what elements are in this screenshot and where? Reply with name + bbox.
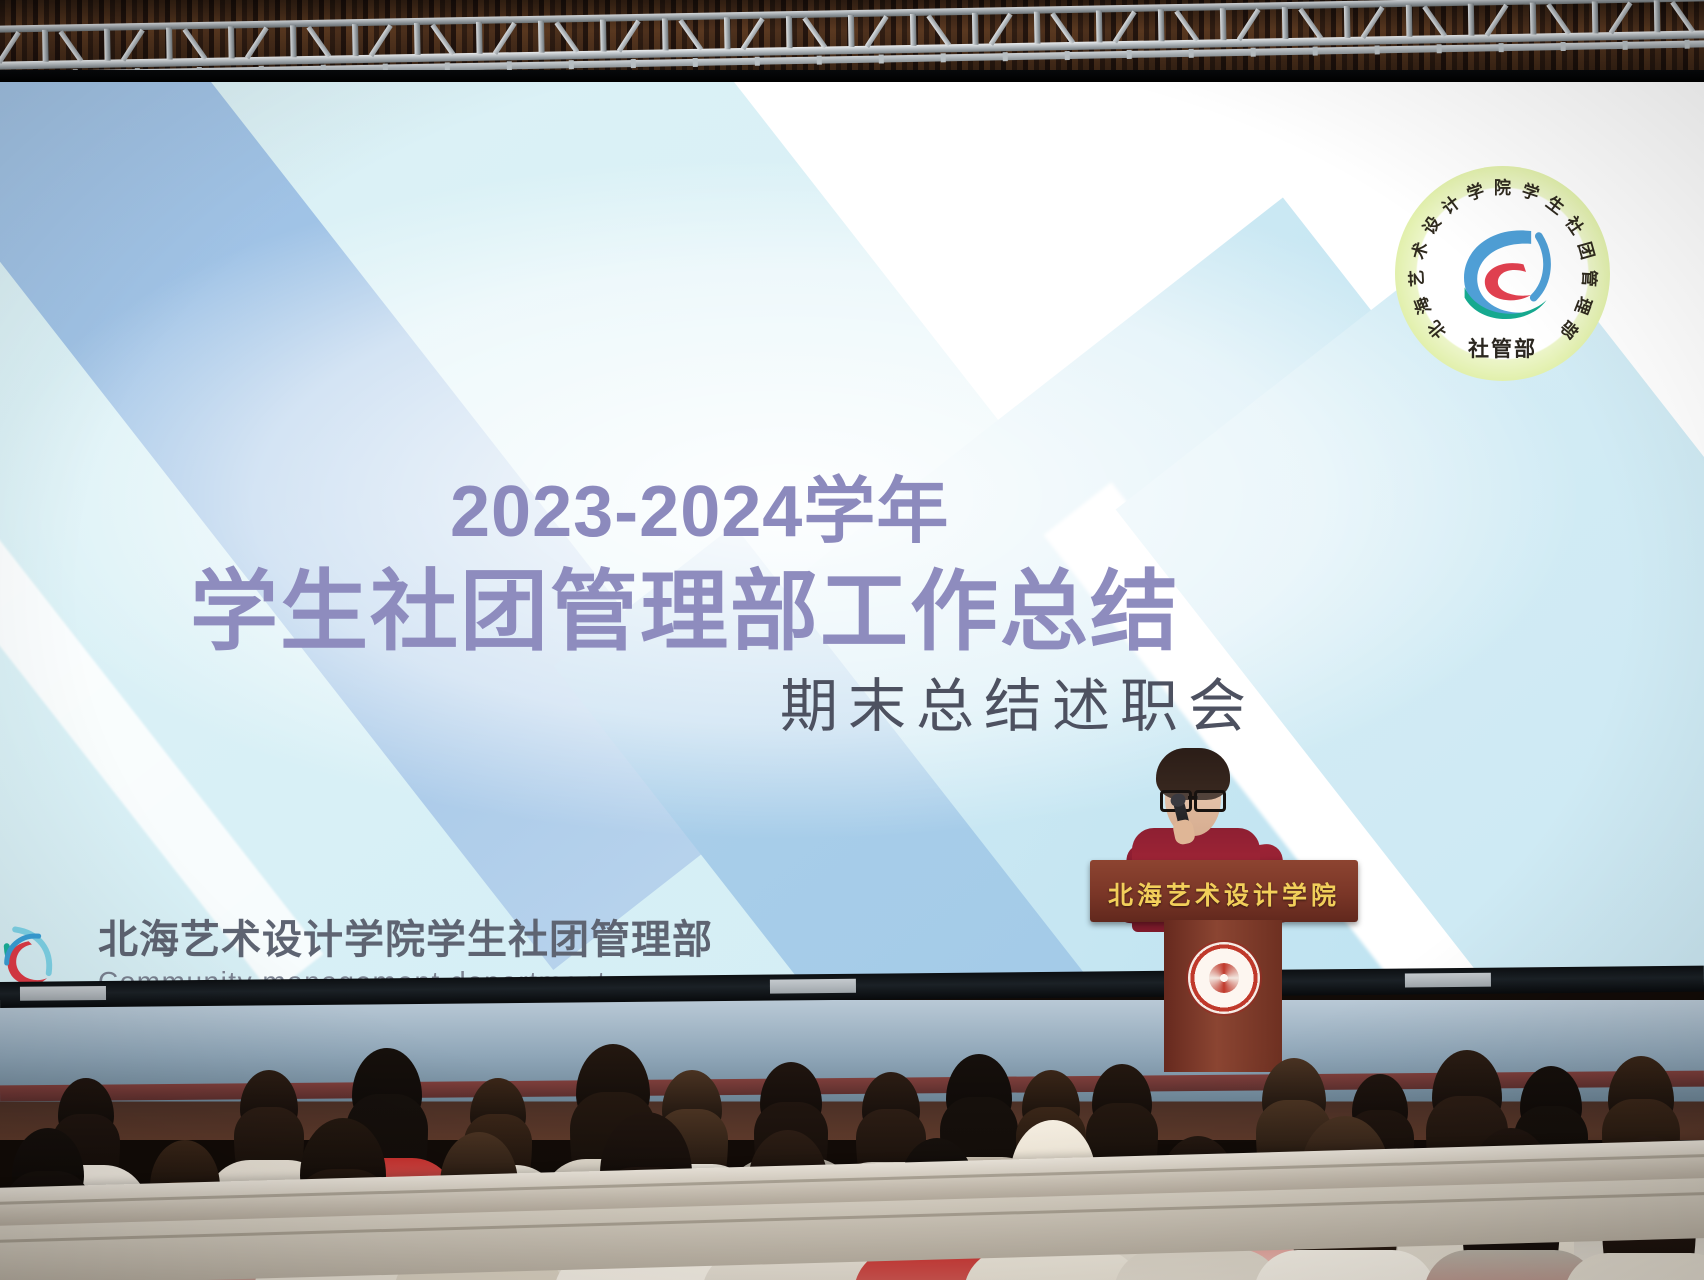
truss-vertical (1468, 4, 1475, 36)
slide-brand-cn: 北海艺术设计学院学生社团管理部 (98, 920, 713, 960)
truss-vertical (290, 25, 297, 57)
truss-vertical (1220, 8, 1227, 40)
truss-vertical (600, 20, 607, 52)
audience-shoulders (1254, 1250, 1436, 1280)
edge-label-mid (770, 979, 856, 994)
truss-vertical (42, 30, 49, 62)
truss-diagonal (926, 14, 951, 46)
truss-diagonal (1174, 10, 1199, 42)
truss-diagonal (245, 26, 269, 59)
truss-diagonal (306, 26, 331, 58)
truss-diagonal (1113, 11, 1137, 44)
truss-diagonal (121, 29, 145, 62)
truss-tick (1685, 40, 1690, 49)
truss-vertical (1592, 1, 1599, 33)
truss-tick (631, 59, 636, 68)
truss-tick (1065, 51, 1070, 60)
truss-tick (1499, 43, 1504, 52)
podium-nameplate: 北海艺术设计学院 (1090, 860, 1358, 922)
truss-tick (817, 56, 822, 65)
truss-vertical (1034, 12, 1041, 44)
truss-diagonal (1237, 8, 1261, 41)
seal-ring-char: 艺 (1402, 269, 1428, 287)
slide-year-line: 2023-2024学年 (450, 476, 1350, 548)
truss-vertical (1654, 0, 1661, 32)
truss-vertical (352, 24, 359, 56)
truss-diagonal (1050, 12, 1075, 44)
ceiling-shadow (0, 70, 1704, 82)
truss-vertical (1406, 5, 1413, 37)
truss-diagonal (59, 30, 84, 62)
truss-vertical (1344, 6, 1351, 38)
seal-ring-char: 院 (1494, 173, 1511, 198)
truss-vertical (1530, 2, 1537, 34)
truss-vertical (1282, 7, 1289, 39)
department-seal-core-icon (1439, 208, 1567, 336)
podium-nameplate-text: 北海艺术设计学院 (1090, 876, 1358, 912)
seal-ring-char: 理 (1570, 293, 1599, 318)
truss-vertical (910, 14, 917, 46)
truss-diagonal (554, 21, 579, 53)
truss-vertical (848, 15, 855, 47)
truss-vertical (786, 16, 793, 48)
truss-vertical (1096, 10, 1103, 42)
truss-diagonal (493, 22, 517, 55)
edge-label-right (1405, 973, 1491, 988)
truss-tick (1375, 45, 1380, 54)
truss-diagonal (989, 13, 1013, 46)
truss-diagonal (1670, 1, 1695, 33)
truss-tick (1561, 42, 1566, 51)
truss-diagonal (182, 28, 207, 60)
truss-vertical (972, 13, 979, 45)
truss-vertical (166, 27, 173, 59)
truss-diagonal (678, 19, 703, 51)
truss-diagonal (1361, 6, 1385, 39)
truss-tick (1437, 44, 1442, 53)
seal-ring-char: 团 (1573, 238, 1602, 261)
truss-tick (941, 53, 946, 62)
truss-diagonal (1298, 7, 1323, 39)
seal-swirl-icon (1209, 963, 1239, 993)
truss-diagonal (1609, 1, 1633, 34)
truss-tick (1003, 52, 1008, 61)
community-swirl-logo-icon (0, 916, 84, 990)
truss-diagonal (1546, 3, 1571, 35)
truss-vertical (414, 23, 421, 55)
seal-ring-char: 学 (1518, 176, 1542, 205)
truss-vertical (104, 29, 111, 61)
seal-ring-char: 学 (1462, 176, 1486, 205)
truss-tick (693, 58, 698, 67)
edge-label-left (20, 986, 106, 1001)
truss-tick (755, 57, 760, 66)
truss-vertical (724, 17, 731, 49)
truss-diagonal (741, 17, 765, 50)
seal-ring-char: 海 (1406, 293, 1435, 318)
truss-diagonal (617, 20, 641, 53)
truss-diagonal (802, 17, 827, 49)
truss-tick (1251, 48, 1256, 57)
truss-vertical (476, 22, 483, 54)
truss-tick (879, 54, 884, 63)
truss-vertical (662, 18, 669, 50)
truss-diagonal (865, 15, 889, 48)
seal-ring-char: 管 (1577, 269, 1603, 287)
truss-vertical (1158, 9, 1165, 41)
truss-diagonal (0, 31, 21, 64)
slide-main-title: 学生社团管理部工作总结 (190, 568, 1390, 656)
seal-ring-char: 术 (1403, 238, 1432, 261)
projection-screen: 2023-2024学年 学生社团管理部工作总结 期末总结述职会 北海艺术设计学院… (0, 78, 1704, 990)
truss-tick (1623, 41, 1628, 50)
auditorium-scene: 2023-2024学年 学生社团管理部工作总结 期末总结述职会 北海艺术设计学院… (0, 0, 1704, 1280)
department-seal: 北海艺术设计学院学生社团管理部 社管部 (1395, 166, 1610, 381)
truss-diagonal (1485, 4, 1509, 37)
truss-vertical (228, 26, 235, 58)
truss-vertical (538, 21, 545, 53)
department-seal-bottom-text: 社管部 (1395, 333, 1610, 363)
truss-tick (1189, 49, 1194, 58)
slide-subtitle: 期末总结述职会 (780, 678, 1480, 736)
truss-tick (1127, 50, 1132, 59)
truss-tick (569, 60, 574, 69)
truss-diagonal (430, 23, 455, 55)
truss-tick (1313, 46, 1318, 55)
truss-tick (507, 61, 512, 70)
truss-diagonal (369, 24, 393, 57)
truss-diagonal (1422, 5, 1447, 37)
